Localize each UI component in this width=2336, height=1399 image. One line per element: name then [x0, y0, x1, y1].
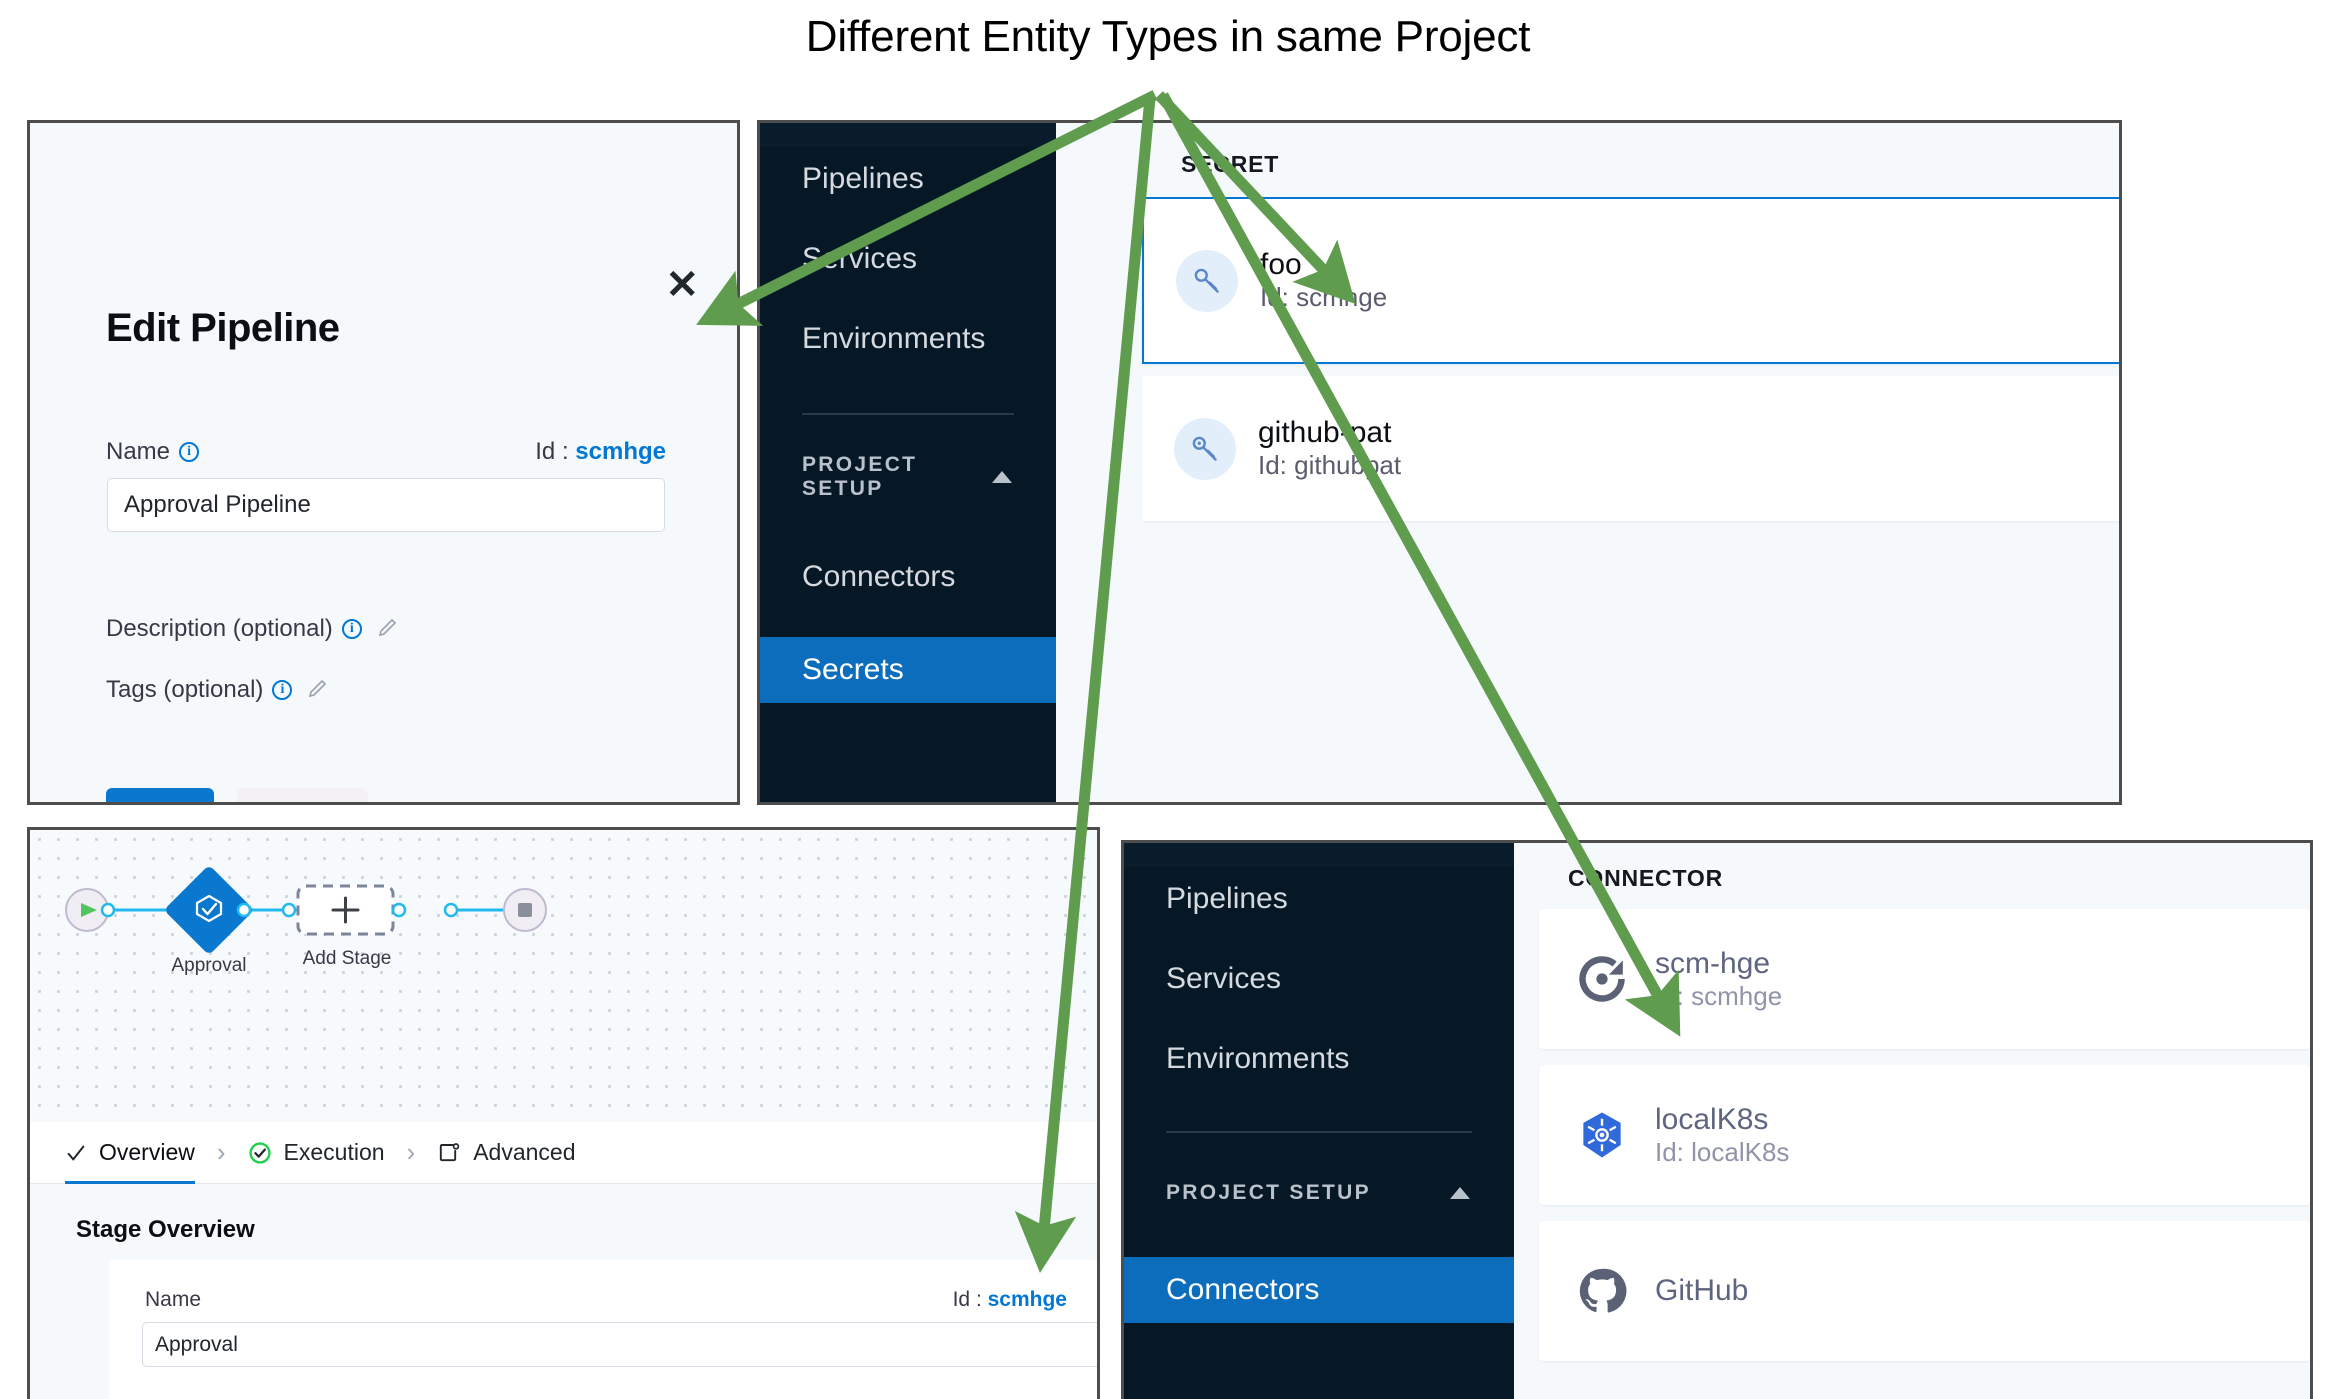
tags-label: Tags (optional) — [106, 676, 263, 704]
kubernetes-icon — [1571, 1104, 1633, 1166]
secrets-list-region: SECRET foo Id: scmhge github-pat Id: git… — [1056, 123, 2119, 802]
list-item[interactable]: github-pat Id: githubpat — [1142, 376, 2122, 521]
sidebar-item-services[interactable]: Services — [760, 227, 1056, 291]
list-item-text: foo Id: scmhge — [1260, 248, 1387, 313]
tab-label: Advanced — [473, 1139, 575, 1166]
secrets-panel: Pipelines Services Environments PROJECT … — [757, 120, 2122, 805]
id-value[interactable]: scmhge — [575, 438, 666, 465]
sidebar-section-project-setup[interactable]: PROJECT SETUP — [760, 449, 1056, 505]
id-prefix-label: Id : — [953, 1288, 982, 1311]
approval-node-label: Approval — [148, 955, 270, 977]
list-item-name: scm-hge — [1655, 947, 1782, 981]
tab-advanced[interactable]: Advanced — [437, 1122, 575, 1183]
list-item-name: github-pat — [1258, 416, 1401, 450]
sidebar-item-pipelines[interactable]: Pipelines — [760, 147, 1056, 211]
page-title-edit-pipeline: Edit Pipeline — [106, 306, 340, 351]
tab-execution[interactable]: Execution — [248, 1122, 385, 1183]
list-item-text: localK8s Id: localK8s — [1655, 1103, 1789, 1168]
connectors-list-region: CONNECTOR scm-hge Id: scmhge localK8s Id… — [1514, 843, 2310, 1399]
stage-id: Id : scmhge — [953, 1288, 1067, 1312]
sidebar-item-environments[interactable]: Environments — [760, 307, 1056, 371]
close-icon[interactable]: ✕ — [665, 265, 699, 305]
id-value[interactable]: scmhge — [988, 1288, 1067, 1311]
list-item-text: github-pat Id: githubpat — [1258, 416, 1401, 481]
chevron-up-icon[interactable] — [992, 471, 1012, 483]
git-icon — [1571, 948, 1633, 1010]
github-icon — [1571, 1260, 1633, 1322]
cancel-button[interactable]: Cancel — [237, 788, 368, 805]
tab-label: Execution — [284, 1139, 385, 1166]
sidebar-item-label: Pipelines — [1166, 882, 1288, 916]
key-icon — [1176, 250, 1238, 312]
list-item-id: Id: scmhge — [1655, 981, 1782, 1012]
pipeline-id: Id : scmhge — [535, 438, 666, 466]
stage-name-label: Name — [145, 1288, 201, 1312]
stage-name-input[interactable] — [142, 1322, 1100, 1367]
tab-label: Overview — [99, 1139, 195, 1166]
key-icon — [1174, 418, 1236, 480]
tags-field-row: Tags (optional) i — [106, 676, 330, 704]
connectors-panel: Pipelines Services Environments PROJECT … — [1121, 840, 2313, 1399]
description-field-row: Description (optional) i — [106, 615, 400, 643]
sidebar-section-label: PROJECT SETUP — [802, 453, 992, 501]
sidebar-item-connectors[interactable]: Connectors — [760, 545, 1056, 609]
edit-pencil-icon[interactable] — [376, 617, 400, 641]
sidebar-item-label: Environments — [802, 322, 985, 356]
list-item-id: Id: localK8s — [1655, 1137, 1789, 1168]
stage-overview-title: Stage Overview — [76, 1216, 255, 1244]
name-field-row: Name i Id : scmhge — [106, 438, 666, 466]
sidebar-section-label: PROJECT SETUP — [1166, 1181, 1371, 1205]
pipeline-canvas[interactable]: Approval Add Stage — [30, 830, 1097, 1122]
secrets-list-header: SECRET — [1181, 151, 1279, 178]
stage-tabs: Overview › Execution › Advanced — [30, 1122, 1097, 1184]
secrets-sidebar: Pipelines Services Environments PROJECT … — [760, 123, 1056, 802]
info-icon[interactable]: i — [342, 619, 362, 639]
sidebar-item-label: Secrets — [802, 653, 904, 687]
id-prefix-label: Id : — [535, 438, 568, 465]
list-item-text: GitHub — [1655, 1274, 1748, 1308]
info-icon[interactable]: i — [179, 442, 199, 462]
sidebar-item-label: Pipelines — [802, 162, 924, 196]
stage-overview-section: Stage Overview Name Id : scmhge — [30, 1184, 1097, 1399]
sidebar-item-label: Environments — [1166, 1042, 1349, 1076]
list-item-text: scm-hge Id: scmhge — [1655, 947, 1782, 1012]
list-item[interactable]: scm-hge Id: scmhge — [1539, 909, 2310, 1049]
info-icon[interactable]: i — [272, 680, 292, 700]
tab-separator: › — [195, 1137, 248, 1168]
sidebar-item-label: Services — [802, 242, 917, 276]
list-item[interactable]: localK8s Id: localK8s — [1539, 1065, 2310, 1205]
sidebar-item-label: Connectors — [1166, 1273, 1319, 1307]
save-button[interactable]: Save — [106, 788, 214, 805]
sidebar-item-secrets[interactable]: Secrets — [760, 637, 1056, 703]
modal-actions: Save Cancel — [106, 788, 368, 805]
pipeline-name-input[interactable] — [107, 478, 665, 532]
list-item-name: GitHub — [1655, 1274, 1748, 1308]
edit-pipeline-panel: ✕ Edit Pipeline Name i Id : scmhge Descr… — [27, 120, 740, 805]
list-item-id: Id: githubpat — [1258, 450, 1401, 481]
check-circle-icon — [248, 1141, 272, 1165]
description-label: Description (optional) — [106, 615, 333, 643]
check-icon — [65, 1142, 87, 1164]
sidebar-divider — [802, 413, 1014, 415]
sidebar-item-label: Services — [1166, 962, 1281, 996]
sidebar-section-project-setup[interactable]: PROJECT SETUP — [1124, 1165, 1514, 1221]
sidebar-item-label: Connectors — [802, 560, 955, 594]
list-item[interactable]: foo Id: scmhge — [1142, 197, 2122, 364]
list-item-name: localK8s — [1655, 1103, 1789, 1137]
tab-separator: › — [385, 1137, 438, 1168]
sidebar-divider — [1166, 1131, 1472, 1133]
add-stage-label: Add Stage — [286, 948, 408, 970]
list-item[interactable]: GitHub — [1539, 1221, 2310, 1361]
page-title: Different Entity Types in same Project — [0, 12, 2336, 62]
advanced-icon — [437, 1141, 461, 1165]
sidebar-item-connectors[interactable]: Connectors — [1124, 1257, 1514, 1323]
tab-overview[interactable]: Overview — [65, 1122, 195, 1183]
name-label: Name — [106, 438, 170, 466]
sidebar-item-environments[interactable]: Environments — [1124, 1027, 1514, 1091]
sidebar-item-pipelines[interactable]: Pipelines — [1124, 867, 1514, 931]
sidebar-item-services[interactable]: Services — [1124, 947, 1514, 1011]
list-item-id: Id: scmhge — [1260, 282, 1387, 313]
edit-pencil-icon[interactable] — [306, 678, 330, 702]
list-item-name: foo — [1260, 248, 1387, 282]
stage-overview-card: Name Id : scmhge — [109, 1260, 1097, 1399]
connectors-list-header: CONNECTOR — [1568, 865, 1723, 892]
connectors-sidebar: Pipelines Services Environments PROJECT … — [1124, 843, 1514, 1399]
pipeline-studio-panel: Approval Add Stage Overview › Execution … — [27, 827, 1100, 1399]
chevron-up-icon[interactable] — [1450, 1187, 1470, 1199]
